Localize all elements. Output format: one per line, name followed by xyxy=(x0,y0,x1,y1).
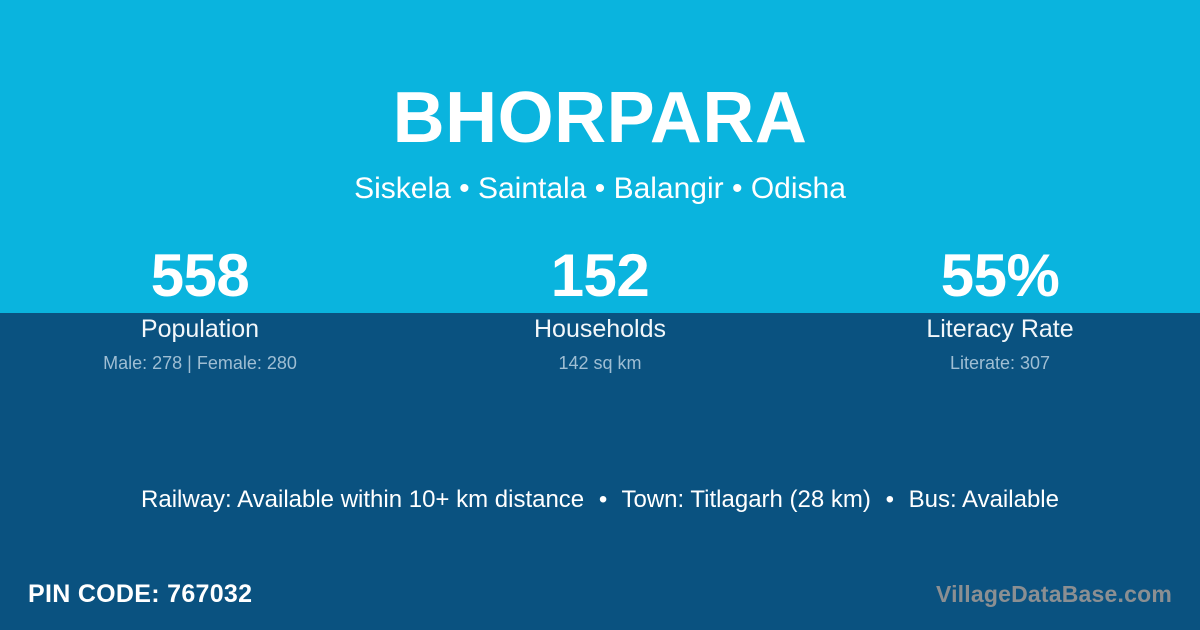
stats-row: 558 Population Male: 278 | Female: 280 1… xyxy=(0,243,1200,374)
stat-population-detail: Male: 278 | Female: 280 xyxy=(0,352,400,374)
amenity-separator-dot: • xyxy=(878,486,902,513)
amenity-separator-dot: • xyxy=(591,486,615,513)
amenities-line: Railway: Available within 10+ km distanc… xyxy=(0,485,1200,515)
stat-households-value: 152 xyxy=(400,243,800,309)
card-footer: PIN CODE: 767032 VillageDataBase.com xyxy=(0,558,1200,630)
amenity-town: Town: Titlagarh (28 km) xyxy=(621,486,870,513)
breadcrumb: Siskela • Saintala • Balangir • Odisha xyxy=(0,154,1200,204)
card-header: BHORPARA Siskela • Saintala • Balangir •… xyxy=(0,0,1200,204)
stat-literacy-rate-detail: Literate: 307 xyxy=(800,352,1200,374)
amenity-railway: Railway: Available within 10+ km distanc… xyxy=(141,486,584,513)
stat-population: 558 Population Male: 278 | Female: 280 xyxy=(0,243,400,374)
stat-literacy-rate: 55% Literacy Rate Literate: 307 xyxy=(800,243,1200,374)
amenity-bus: Bus: Available xyxy=(909,486,1059,513)
stat-households-detail: 142 sq km xyxy=(400,352,800,374)
village-info-card: BHORPARA Siskela • Saintala • Balangir •… xyxy=(0,0,1200,630)
site-brand-label: VillageDataBase.com xyxy=(936,580,1172,608)
pin-code-label: PIN CODE: 767032 xyxy=(28,579,252,609)
stat-households-label: Households xyxy=(400,314,800,344)
stat-literacy-rate-value: 55% xyxy=(800,243,1200,309)
stat-households: 152 Households 142 sq km xyxy=(400,243,800,374)
page-title: BHORPARA xyxy=(0,0,1200,154)
stat-population-value: 558 xyxy=(0,243,400,309)
stat-literacy-rate-label: Literacy Rate xyxy=(800,314,1200,344)
stat-population-label: Population xyxy=(0,314,400,344)
